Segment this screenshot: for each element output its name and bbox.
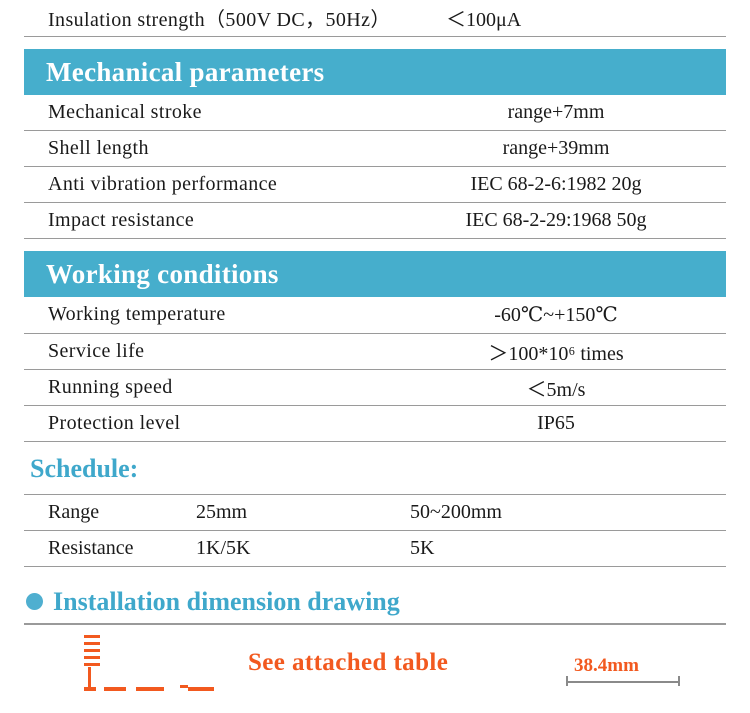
row-value: range+7mm xyxy=(446,95,726,131)
drawing-stem xyxy=(88,667,91,689)
table-row: Range 25mm 50~200mm xyxy=(24,494,726,530)
drawing-base-segment xyxy=(180,685,188,688)
row-value: IEC 68-2-6:1982 20g xyxy=(446,167,726,203)
row-value-col3: 50~200mm xyxy=(356,494,726,530)
drawing-base-segment xyxy=(188,687,214,691)
schedule-heading: Schedule: xyxy=(24,448,726,490)
table-row: Insulation strength（500V DC，50Hz） ＜100μA xyxy=(24,0,726,36)
row-value: -60℃~+150℃ xyxy=(446,297,726,333)
spec-sheet-page: Insulation strength（500V DC，50Hz） ＜100μA… xyxy=(0,0,750,713)
table-row: Working temperature -60℃~+150℃ xyxy=(24,297,726,333)
table-row: Protection level IP65 xyxy=(24,405,726,441)
row-label: Protection level xyxy=(24,405,446,441)
dimension-line-icon xyxy=(566,681,680,683)
table-row: Anti vibration performance IEC 68-2-6:19… xyxy=(24,167,726,203)
table-row: Shell length range+39mm xyxy=(24,131,726,167)
section-banner-working-conditions: Working conditions xyxy=(24,251,726,297)
divider-rule xyxy=(24,623,726,625)
technical-drawing-fragment-icon xyxy=(84,633,264,695)
row-label: Impact resistance xyxy=(24,203,446,239)
row-value: ＞100*10⁶ times xyxy=(446,333,726,369)
table-row: Running speed ＜5m/s xyxy=(24,369,726,405)
working-conditions-table: Working temperature -60℃~+150℃ Service l… xyxy=(24,297,726,442)
installation-drawing-area: See attached table 38.4mm xyxy=(0,633,750,695)
row-value: ＜100μA xyxy=(446,0,726,36)
row-value: range+39mm xyxy=(446,131,726,167)
table-row: Impact resistance IEC 68-2-29:1968 50g xyxy=(24,203,726,239)
drawing-base-segment xyxy=(136,687,164,691)
table-row: Service life ＞100*10⁶ times xyxy=(24,333,726,369)
row-label: Shell length xyxy=(24,131,446,167)
row-value-col2: 1K/5K xyxy=(188,530,356,566)
installation-heading-label: Installation dimension drawing xyxy=(53,587,400,617)
row-label: Range xyxy=(24,494,188,530)
electrical-parameters-table-continued: Insulation strength（500V DC，50Hz） ＜100μA xyxy=(24,0,726,37)
row-label: Anti vibration performance xyxy=(24,167,446,203)
hatch-pattern-icon xyxy=(84,635,100,669)
bullet-dot-icon xyxy=(26,593,43,610)
section-banner-mechanical-parameters: Mechanical parameters xyxy=(24,49,726,95)
mechanical-parameters-table: Mechanical stroke range+7mm Shell length… xyxy=(24,95,726,240)
row-label: Working temperature xyxy=(24,297,446,333)
row-value-col3: 5K xyxy=(356,530,726,566)
installation-dimension-heading: Installation dimension drawing xyxy=(24,587,726,617)
table-row: Resistance 1K/5K 5K xyxy=(24,530,726,566)
row-label: Running speed xyxy=(24,369,446,405)
see-attached-table-note: See attached table xyxy=(248,649,448,677)
schedule-table: Range 25mm 50~200mm Resistance 1K/5K 5K xyxy=(24,494,726,567)
table-row: Mechanical stroke range+7mm xyxy=(24,95,726,131)
row-value-col2: 25mm xyxy=(188,494,356,530)
row-value: ＜5m/s xyxy=(446,369,726,405)
dimension-label: 38.4mm xyxy=(574,655,639,677)
row-label: Resistance xyxy=(24,530,188,566)
row-value: IP65 xyxy=(446,405,726,441)
row-label: Service life xyxy=(24,333,446,369)
row-label: Mechanical stroke xyxy=(24,95,446,131)
row-label: Insulation strength（500V DC，50Hz） xyxy=(24,0,446,36)
drawing-base-segment xyxy=(104,687,126,691)
drawing-base-segment xyxy=(84,687,96,691)
row-value: IEC 68-2-29:1968 50g xyxy=(446,203,726,239)
